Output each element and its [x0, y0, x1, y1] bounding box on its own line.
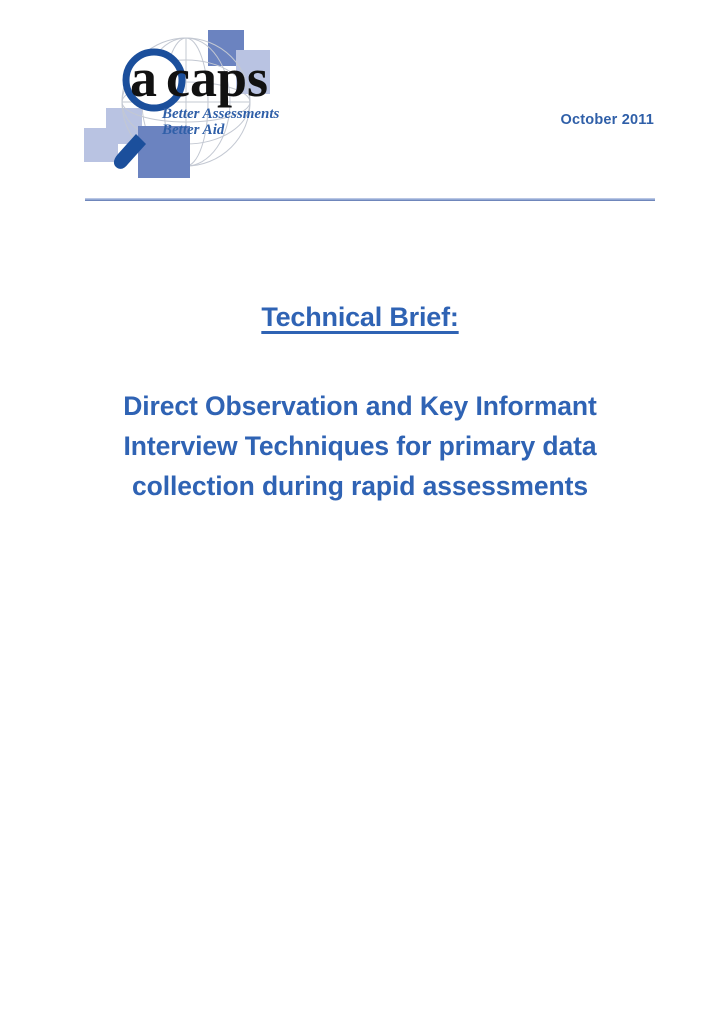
logo-wordmark-a: a [130, 48, 157, 108]
logo-tagline-line2: Better Aid [161, 122, 225, 138]
logo-graphic: a caps Better Assessments Better Aid [78, 22, 308, 187]
document-kicker: Technical Brief: [0, 300, 720, 334]
header-divider [85, 198, 655, 201]
logo-tagline-line1: Better Assessments [161, 106, 280, 122]
publication-date: October 2011 [561, 112, 654, 128]
decorative-square [84, 128, 118, 162]
title-block: Technical Brief: Direct Observation and … [0, 300, 720, 506]
page-title: Direct Observation and Key Informant Int… [80, 386, 640, 506]
document-page: a caps Better Assessments Better Aid Oct… [0, 0, 720, 1026]
logo-wordmark-rest: caps [166, 48, 268, 108]
acaps-logo: a caps Better Assessments Better Aid [78, 22, 308, 187]
page-title-line: Interview Techniques for primary data [80, 426, 640, 466]
page-title-line: collection during rapid assessments [80, 466, 640, 506]
page-title-line: Direct Observation and Key Informant [80, 386, 640, 426]
empty-page-body [0, 520, 720, 1026]
page-header: a caps Better Assessments Better Aid Oct… [0, 0, 720, 200]
